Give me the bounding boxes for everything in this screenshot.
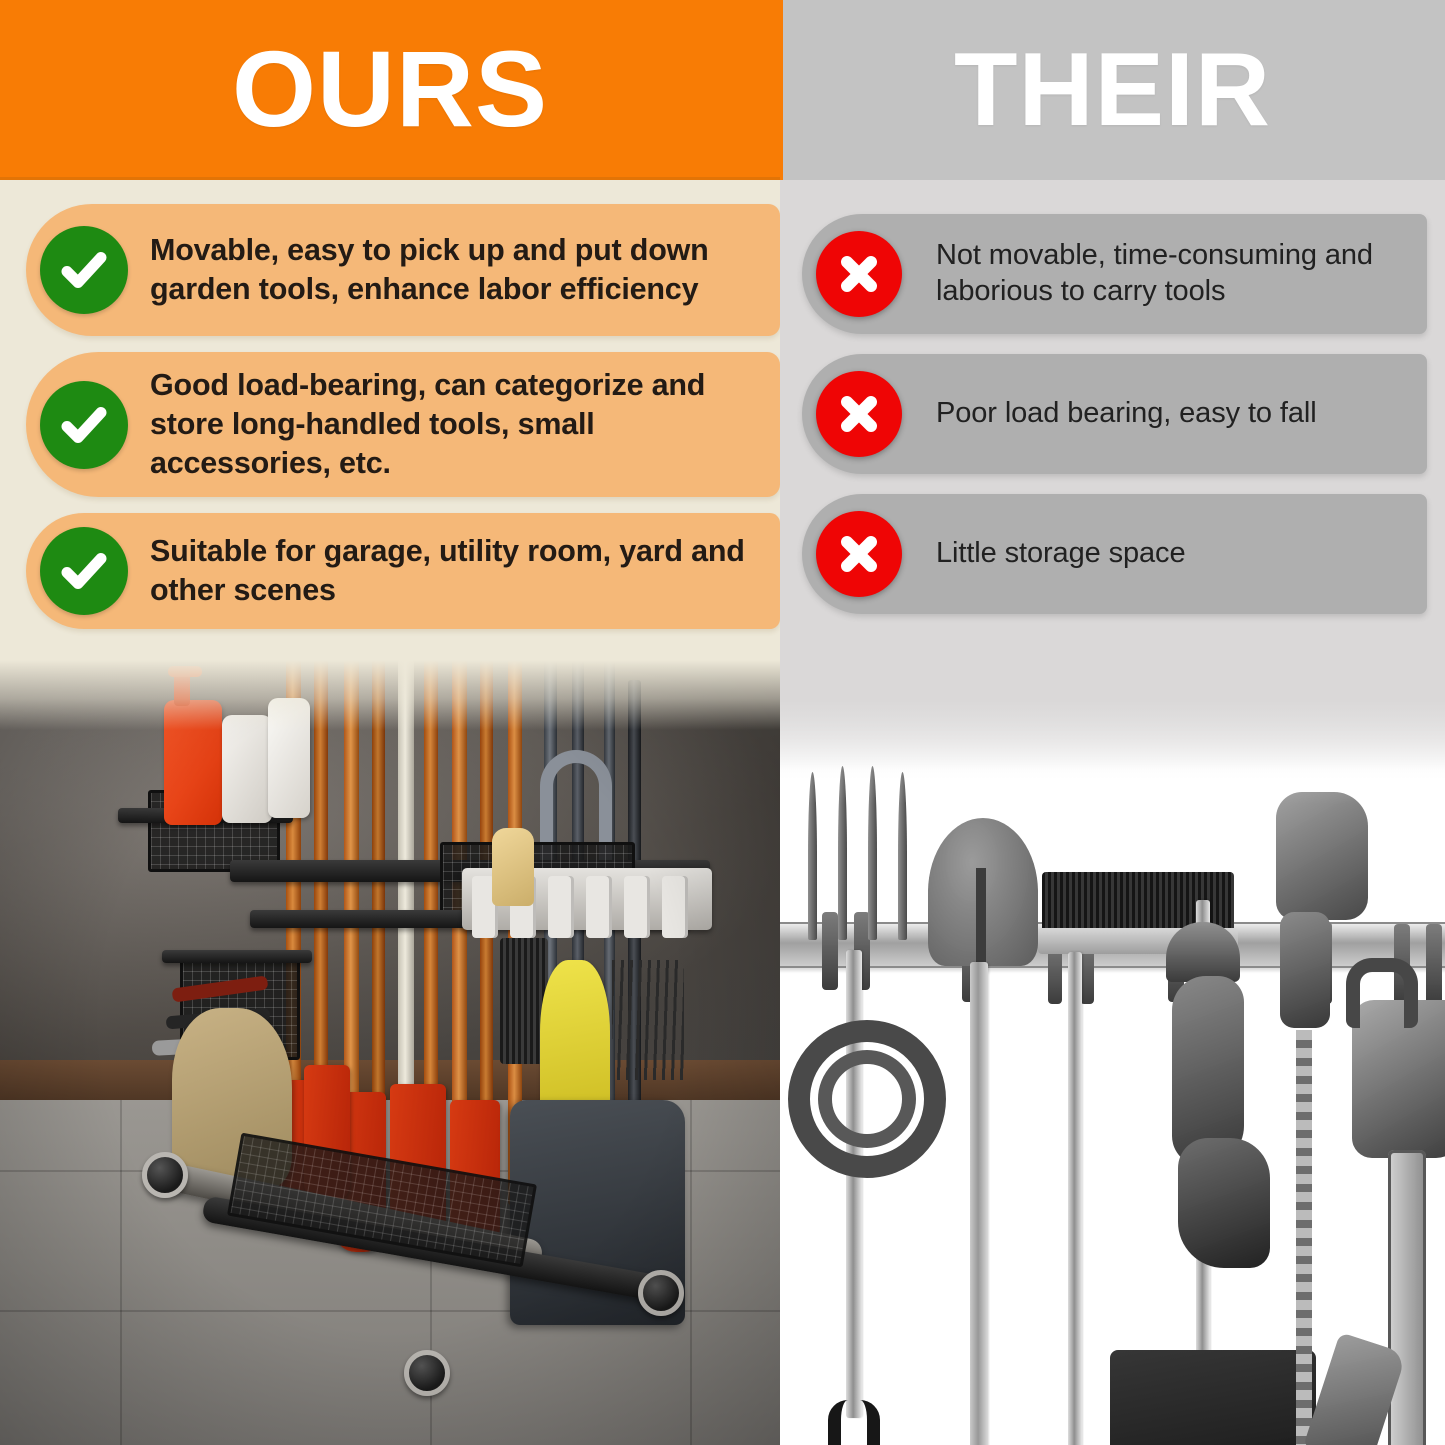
column-divider <box>780 0 783 180</box>
caster-wheel <box>404 1350 450 1396</box>
ours-benefit-list: Movable, easy to pick up and put down ga… <box>0 180 780 629</box>
ours-benefit-text-1: Movable, easy to pick up and put down ga… <box>150 231 760 309</box>
wall-rail-tools-scene <box>780 700 1445 1445</box>
check-circle-icon <box>40 226 128 314</box>
their-drawback-list: Not movable, time-consuming and laboriou… <box>780 180 1445 614</box>
cross-circle-icon <box>816 511 902 597</box>
spray-bottle <box>164 700 222 825</box>
pitchfork-tine <box>868 766 877 940</box>
garage-tool-cart-scene <box>0 660 780 1445</box>
ours-benefit-item-2: Good load-bearing, can categorize and st… <box>26 352 780 497</box>
their-header: THEIR <box>780 0 1445 180</box>
their-drawback-text-1: Not movable, time-consuming and laboriou… <box>936 238 1409 310</box>
their-drawback-text-3: Little storage space <box>936 536 1186 572</box>
cross-circle-icon <box>816 371 902 457</box>
pitchfork-tine <box>838 766 847 940</box>
white-jug <box>222 715 272 823</box>
their-drawback-item-2: Poor load bearing, easy to fall <box>802 354 1427 474</box>
chainsaw-bar <box>1388 1150 1426 1445</box>
ours-product-photo <box>0 660 780 1445</box>
ours-benefit-item-1: Movable, easy to pick up and put down ga… <box>26 204 780 336</box>
caster-wheel <box>638 1270 684 1316</box>
ours-benefit-item-3: Suitable for garage, utility room, yard … <box>26 513 780 629</box>
ours-benefit-text-2: Good load-bearing, can categorize and st… <box>150 366 760 483</box>
their-drawback-item-1: Not movable, time-consuming and laboriou… <box>802 214 1427 334</box>
ours-header: OURS <box>0 0 780 180</box>
white-bottle <box>268 698 310 818</box>
ours-benefit-text-3: Suitable for garage, utility room, yard … <box>150 532 760 610</box>
their-product-photo <box>780 700 1445 1445</box>
cross-circle-icon <box>816 231 902 317</box>
snow-shovel-blade <box>1110 1350 1316 1445</box>
comparison-infographic: OURS Movable, easy to pick up and put do… <box>0 0 1445 1445</box>
trimmer-blade <box>1296 1030 1312 1445</box>
pitchfork-tine <box>808 772 817 940</box>
broom-shaft <box>1068 952 1082 1445</box>
their-header-title: THEIR <box>954 38 1271 142</box>
their-column: THEIR Not movable, time-consuming and la… <box>780 0 1445 1445</box>
ours-column: OURS Movable, easy to pick up and put do… <box>0 0 780 1445</box>
shovel-shaft <box>970 962 988 1445</box>
pitchfork-tine <box>898 772 907 940</box>
their-drawback-text-2: Poor load bearing, easy to fall <box>936 396 1317 432</box>
their-drawback-item-3: Little storage space <box>802 494 1427 614</box>
hedge-trimmer <box>1276 792 1368 920</box>
check-circle-icon <box>40 527 128 615</box>
ours-header-title: OURS <box>232 35 548 143</box>
check-circle-icon <box>40 381 128 469</box>
caster-wheel <box>142 1152 188 1198</box>
